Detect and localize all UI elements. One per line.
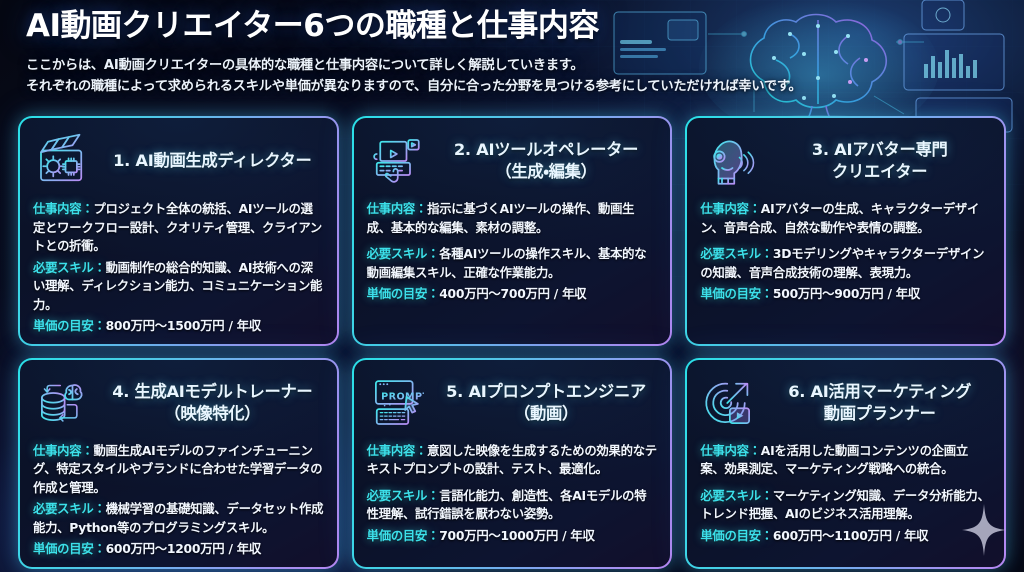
header: AI動画クリエイター6つの職種と仕事内容 ここからは、AI動画クリエイターの具体… <box>26 8 906 98</box>
card-title-line-1: 4. 生成AIモデルトレーナー <box>112 382 312 401</box>
duties-row: 仕事内容：AIアバターの生成、キャラクターデザイン、音声合成、自然な動作や表情の… <box>700 200 991 237</box>
card-header: 6. AI活用マーケティング 動画プランナー <box>700 369 991 437</box>
skills-label: 必要スキル： <box>700 247 773 261</box>
laptop-video-hand-icon <box>367 132 425 190</box>
price-text: 600万円〜1100万円 / 年収 <box>773 529 928 543</box>
card-title: 3. AIアバター専門 クリエイター <box>768 139 991 183</box>
job-card-1[interactable]: 1. AI動画生成ディレクター 仕事内容：プロジェクト全体の統括、AIツールの選… <box>18 116 339 346</box>
job-card-4[interactable]: 4. 生成AIモデルトレーナー （映像特化） 仕事内容：動画生成AIモデルのファ… <box>18 358 339 569</box>
price-text: 400万円〜700万円 / 年収 <box>439 287 586 301</box>
skills-row: 必要スキル：機械学習の基礎知識、データセット作成能力、Python等のプログラミ… <box>33 500 324 537</box>
job-card-5[interactable]: PROMPT 5. AIプロンプトエンジニア <box>352 358 673 569</box>
card-title-line-1: 2. AIツールオペレーター <box>454 140 638 159</box>
card-title-line-2: （動画） <box>435 403 658 425</box>
four-point-sparkle-icon <box>962 504 1006 556</box>
duties-row: 仕事内容：意図した映像を生成するための効果的なテキストプロンプトの設計、テスト、… <box>367 442 658 479</box>
duties-row: 仕事内容：AIを活用した動画コンテンツの企画立案、効果測定、マーケティング戦略へ… <box>700 442 991 479</box>
card-body: 仕事内容：AIを活用した動画コンテンツの企画立案、効果測定、マーケティング戦略へ… <box>700 442 991 546</box>
price-row: 単価の目安：400万円〜700万円 / 年収 <box>367 285 658 304</box>
infographic-canvas: AI動画クリエイター6つの職種と仕事内容 ここからは、AI動画クリエイターの具体… <box>0 0 1024 572</box>
price-label: 単価の目安： <box>367 287 440 301</box>
job-card-6[interactable]: 6. AI活用マーケティング 動画プランナー 仕事内容：AIを活用した動画コンテ… <box>685 358 1006 569</box>
duties-row: 仕事内容：動画生成AIモデルのファインチューニング、特定スタイルやブランドに合わ… <box>33 442 324 498</box>
job-card-3[interactable]: 3. AIアバター専門 クリエイター 仕事内容：AIアバターの生成、キャラクター… <box>685 116 1006 346</box>
price-label: 単価の目安： <box>33 319 106 333</box>
skills-row: 必要スキル：動画制作の総合的知識、AI技術への深い理解、ディレクション能力、コミ… <box>33 259 324 315</box>
skills-row: 必要スキル：各種AIツールの操作スキル、基本的な動画編集スキル、正確な作業能力。 <box>367 245 658 282</box>
skills-row: 必要スキル：言語化能力、創造性、各AIモデルの特性理解、試行錯誤を厭わない姿勢。 <box>367 487 658 524</box>
card-body: 仕事内容：プロジェクト全体の統括、AIツールの選定とワークフロー設計、クオリティ… <box>33 200 324 336</box>
duties-label: 仕事内容： <box>700 202 760 216</box>
duties-label: 仕事内容： <box>367 202 427 216</box>
card-title-line-1: 3. AIアバター専門 <box>812 140 948 159</box>
card-header: PROMPT 5. AIプロンプトエンジニア <box>367 369 658 437</box>
target-arrow-play-icon <box>700 374 758 432</box>
skills-row: 必要スキル：3Dモデリングやキャラクターデザインの知識、音声合成技術の理解、表現… <box>700 245 991 282</box>
page-subtitle-line-1: ここからは、AI動画クリエイターの具体的な職種と仕事内容について詳しく解説してい… <box>26 55 906 76</box>
card-header: 1. AI動画生成ディレクター <box>33 127 324 195</box>
price-row: 単価の目安：600万円〜1200万円 / 年収 <box>33 540 324 559</box>
card-title: 5. AIプロンプトエンジニア （動画） <box>435 381 658 425</box>
card-header: 4. 生成AIモデルトレーナー （映像特化） <box>33 369 324 437</box>
price-label: 単価の目安： <box>33 542 106 556</box>
skills-row: 必要スキル：マーケティング知識、データ分析能力、トレンド把握、AIのビジネス活用… <box>700 487 991 524</box>
skills-label: 必要スキル： <box>367 489 440 503</box>
card-title-line-2: （生成・編集） <box>435 161 658 183</box>
card-body: 仕事内容：AIアバターの生成、キャラクターデザイン、音声合成、自然な動作や表情の… <box>700 200 991 304</box>
duties-row: 仕事内容：プロジェクト全体の統括、AIツールの選定とワークフロー設計、クオリティ… <box>33 200 324 256</box>
price-label: 単価の目安： <box>700 287 773 301</box>
duties-label: 仕事内容： <box>33 444 93 458</box>
page-subtitle-line-2: それぞれの職種によって求められるスキルや単価が異なりますので、自分に合った分野を… <box>26 76 906 97</box>
skills-label: 必要スキル： <box>700 489 773 503</box>
duties-label: 仕事内容： <box>367 444 427 458</box>
card-title-line-2: 動画プランナー <box>768 403 991 425</box>
card-title: 1. AI動画生成ディレクター <box>101 150 324 172</box>
card-title: 2. AIツールオペレーター （生成・編集） <box>435 139 658 183</box>
skills-label: 必要スキル： <box>367 247 440 261</box>
price-row: 単価の目安：600万円〜1100万円 / 年収 <box>700 527 991 546</box>
svg-text:PROMPT: PROMPT <box>381 391 424 402</box>
duties-label: 仕事内容： <box>33 202 93 216</box>
card-header: 2. AIツールオペレーター （生成・編集） <box>367 127 658 195</box>
skills-label: 必要スキル： <box>33 261 106 275</box>
card-title-line-1: 5. AIプロンプトエンジニア <box>446 382 646 401</box>
job-card-2[interactable]: 2. AIツールオペレーター （生成・編集） 仕事内容：指示に基づくAIツールの… <box>352 116 673 346</box>
page-title: AI動画クリエイター6つの職種と仕事内容 <box>26 8 906 46</box>
card-title-line-2: クリエイター <box>768 161 991 183</box>
clapperboard-gear-chip-icon <box>33 132 91 190</box>
price-row: 単価の目安：800万円〜1500万円 / 年収 <box>33 317 324 336</box>
duties-label: 仕事内容： <box>700 444 760 458</box>
card-title-line-1: 1. AI動画生成ディレクター <box>113 151 311 170</box>
price-label: 単価の目安： <box>700 529 773 543</box>
card-title: 6. AI活用マーケティング 動画プランナー <box>768 381 991 425</box>
price-row: 単価の目安：500万円〜900万円 / 年収 <box>700 285 991 304</box>
price-text: 800万円〜1500万円 / 年収 <box>106 319 261 333</box>
page-subtitle: ここからは、AI動画クリエイターの具体的な職種と仕事内容について詳しく解説してい… <box>26 55 906 98</box>
card-title-line-1: 6. AI活用マーケティング <box>788 382 971 401</box>
price-text: 500万円〜900万円 / 年収 <box>773 287 920 301</box>
price-row: 単価の目安：700万円〜1000万円 / 年収 <box>367 527 658 546</box>
price-text: 600万円〜1200万円 / 年収 <box>106 542 261 556</box>
database-brain-icon <box>33 374 91 432</box>
robot-head-voice-icon <box>700 132 758 190</box>
card-header: 3. AIアバター専門 クリエイター <box>700 127 991 195</box>
card-title-line-2: （映像特化） <box>101 403 324 425</box>
card-body: 仕事内容：指示に基づくAIツールの操作、動画生成、基本的な編集、素材の調整。 必… <box>367 200 658 304</box>
duties-row: 仕事内容：指示に基づくAIツールの操作、動画生成、基本的な編集、素材の調整。 <box>367 200 658 237</box>
card-body: 仕事内容：動画生成AIモデルのファインチューニング、特定スタイルやブランドに合わ… <box>33 442 324 559</box>
prompt-window-keyboard-icon: PROMPT <box>367 374 425 432</box>
skills-label: 必要スキル： <box>33 502 106 516</box>
price-text: 700万円〜1000万円 / 年収 <box>439 529 594 543</box>
job-card-grid: 1. AI動画生成ディレクター 仕事内容：プロジェクト全体の統括、AIツールの選… <box>18 116 1006 560</box>
card-body: 仕事内容：意図した映像を生成するための効果的なテキストプロンプトの設計、テスト、… <box>367 442 658 546</box>
card-title: 4. 生成AIモデルトレーナー （映像特化） <box>101 381 324 425</box>
price-label: 単価の目安： <box>367 529 440 543</box>
